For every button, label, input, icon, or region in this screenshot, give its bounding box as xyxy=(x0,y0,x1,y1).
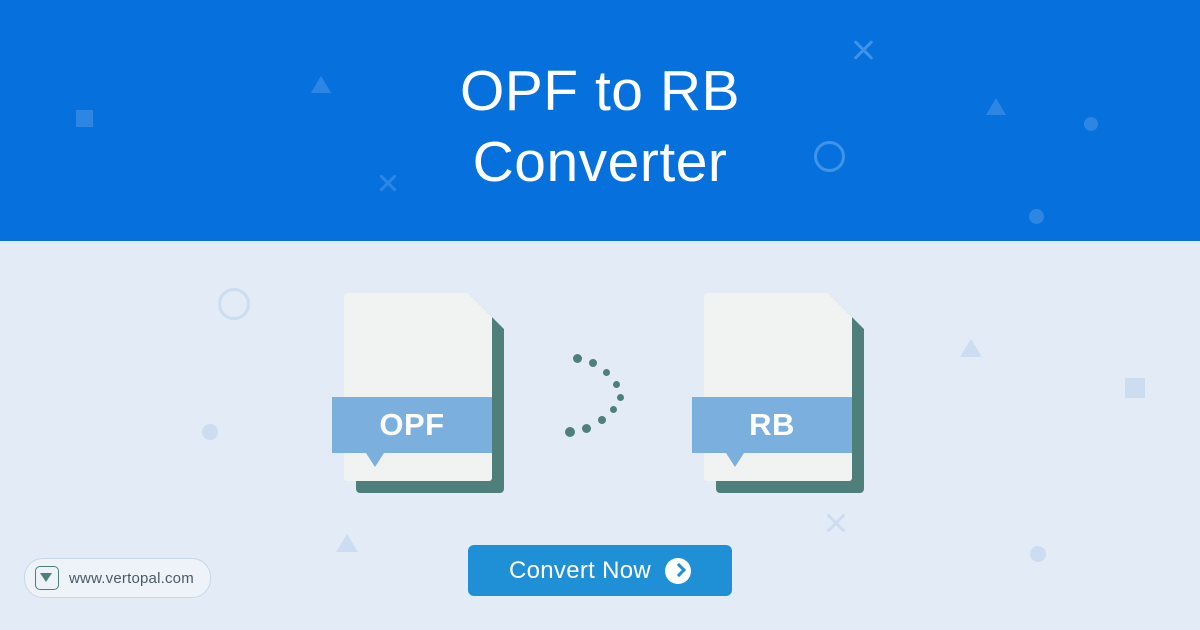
target-file-card: RB xyxy=(704,293,864,493)
triangle-icon xyxy=(336,534,358,552)
square-icon xyxy=(1125,378,1145,398)
circle-outline-icon xyxy=(218,288,250,320)
brand-url-label: www.vertopal.com xyxy=(69,570,194,587)
triangle-icon xyxy=(960,339,982,357)
page-title: OPF to RB Converter xyxy=(0,56,1200,198)
page-fold-cover xyxy=(468,293,504,329)
convert-now-label: Convert Now xyxy=(509,557,651,585)
band-notch xyxy=(366,453,384,467)
source-format-label: OPF xyxy=(379,407,444,443)
x-mark-icon xyxy=(824,511,848,535)
target-format-band: RB xyxy=(692,397,852,453)
vertopal-logo-icon xyxy=(35,566,59,590)
dotted-arrow-icon xyxy=(565,348,635,440)
convert-now-button[interactable]: Convert Now xyxy=(468,545,732,596)
dot-icon xyxy=(202,424,218,440)
dot-icon xyxy=(1029,209,1044,224)
arrow-right-circle-icon xyxy=(665,558,691,584)
target-format-label: RB xyxy=(749,407,795,443)
page-fold-cover xyxy=(828,293,864,329)
band-notch xyxy=(726,453,744,467)
promo-banner: OPF to RB Converter OPF xyxy=(0,0,1200,630)
brand-badge[interactable]: www.vertopal.com xyxy=(24,558,211,598)
source-file-card: OPF xyxy=(344,293,504,493)
dot-icon xyxy=(1030,546,1046,562)
header-banner: OPF to RB Converter xyxy=(0,0,1200,241)
source-format-band: OPF xyxy=(332,397,492,453)
